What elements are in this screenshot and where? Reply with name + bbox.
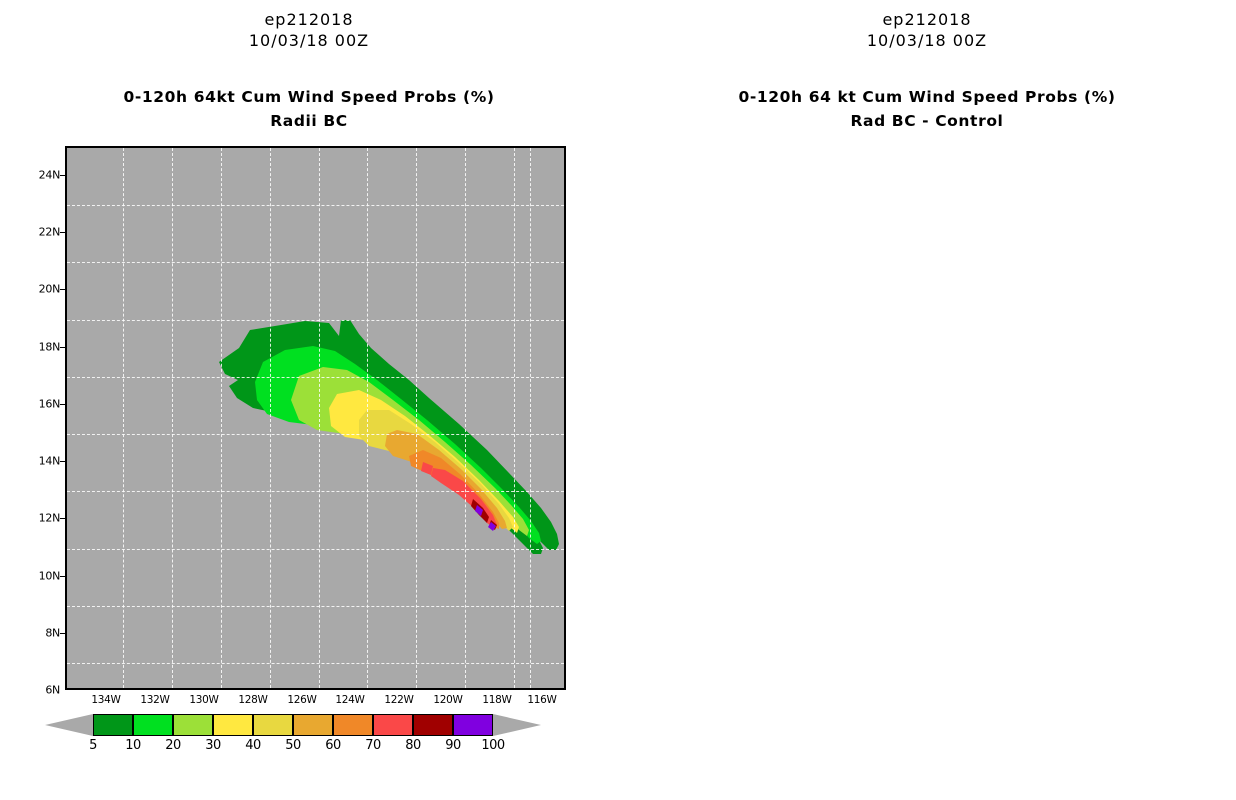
colorbar-segment <box>293 714 333 736</box>
storm-id-right: ep212018 <box>618 10 1236 29</box>
colorbar-segment <box>453 714 493 736</box>
colorbar-under-arrow-left <box>45 714 93 736</box>
colorbar-segment <box>413 714 453 736</box>
panel-subtitle-left: Radii BC <box>0 112 618 130</box>
storm-id-left: ep212018 <box>0 10 618 29</box>
colorbar-segment <box>173 714 213 736</box>
colorbar-segment <box>93 714 133 736</box>
colorbar-probability[interactable]: 5 10 20 30 40 50 60 70 80 90 100 <box>93 714 493 736</box>
colorbar-segment <box>373 714 413 736</box>
panel-title-right: 0-120h 64 kt Cum Wind Speed Probs (%) <box>618 88 1236 106</box>
colorbar-over-arrow-left <box>493 714 541 736</box>
contour-field-probability <box>67 148 564 688</box>
forecast-date-left: 10/03/18 00Z <box>0 31 618 50</box>
map-plot-radii-bc[interactable] <box>65 146 566 690</box>
colorbar-segment <box>253 714 293 736</box>
colorbar-segment <box>333 714 373 736</box>
panel-subtitle-right: Rad BC - Control <box>618 112 1236 130</box>
panel-radii-bc: ep212018 10/03/18 00Z 0-120h 64kt Cum Wi… <box>0 0 618 800</box>
panel-rad-bc-minus-control: ep212018 10/03/18 00Z 0-120h 64 kt Cum W… <box>618 0 1236 800</box>
colorbar-segment <box>213 714 253 736</box>
panel-title-left: 0-120h 64kt Cum Wind Speed Probs (%) <box>0 88 618 106</box>
colorbar-segment <box>133 714 173 736</box>
forecast-date-right: 10/03/18 00Z <box>618 31 1236 50</box>
